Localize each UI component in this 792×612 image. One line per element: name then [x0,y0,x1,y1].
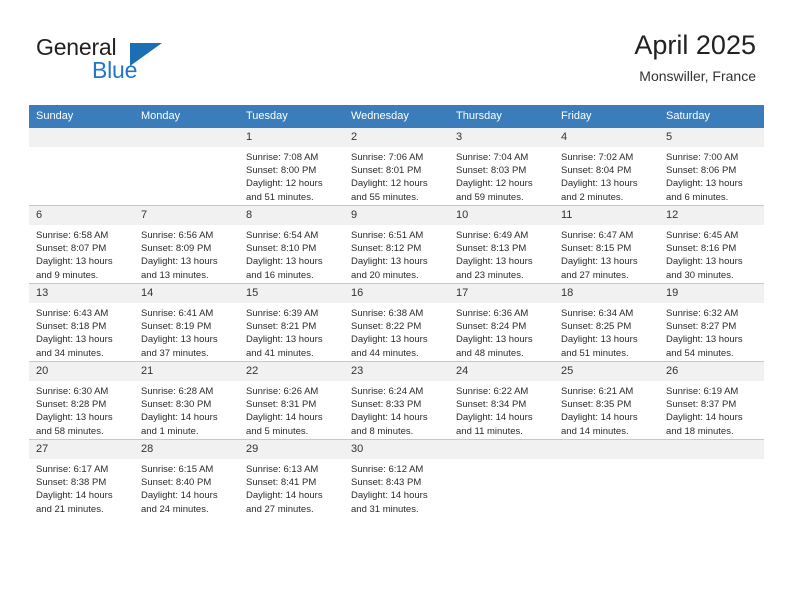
page-header: General Blue April 2025 Monswiller, Fran… [0,0,792,104]
calendar-day-cell-empty [554,440,659,518]
sunset-text: Sunset: 8:41 PM [246,476,338,489]
calendar-day-cell[interactable]: 3Sunrise: 7:04 AMSunset: 8:03 PMDaylight… [449,128,554,206]
day-details: Sunrise: 6:41 AMSunset: 8:19 PMDaylight:… [134,303,239,360]
weekday-header-monday: Monday [134,105,239,128]
day-number: 6 [29,206,134,225]
day-number: 22 [239,362,344,381]
day-number: 1 [239,128,344,147]
calendar-day-cell[interactable]: 14Sunrise: 6:41 AMSunset: 8:19 PMDayligh… [134,284,239,362]
day-details: Sunrise: 6:17 AMSunset: 8:38 PMDaylight:… [29,459,134,516]
day-details: Sunrise: 7:02 AMSunset: 8:04 PMDaylight:… [554,147,659,204]
sunrise-text: Sunrise: 7:04 AM [456,151,548,164]
day-details: Sunrise: 6:32 AMSunset: 8:27 PMDaylight:… [659,303,764,360]
day-details: Sunrise: 6:43 AMSunset: 8:18 PMDaylight:… [29,303,134,360]
calendar-day-cell[interactable]: 15Sunrise: 6:39 AMSunset: 8:21 PMDayligh… [239,284,344,362]
sunrise-text: Sunrise: 6:30 AM [36,385,128,398]
daylight-text: Daylight: 13 hours and 27 minutes. [561,255,653,281]
sunrise-text: Sunrise: 6:26 AM [246,385,338,398]
day-details: Sunrise: 6:54 AMSunset: 8:10 PMDaylight:… [239,225,344,282]
day-number: 20 [29,362,134,381]
day-details: Sunrise: 6:19 AMSunset: 8:37 PMDaylight:… [659,381,764,438]
sunrise-text: Sunrise: 6:24 AM [351,385,443,398]
calendar-day-cell-empty [134,128,239,206]
sunset-text: Sunset: 8:31 PM [246,398,338,411]
sunset-text: Sunset: 8:16 PM [666,242,758,255]
sunset-text: Sunset: 8:33 PM [351,398,443,411]
calendar-day-cell[interactable]: 28Sunrise: 6:15 AMSunset: 8:40 PMDayligh… [134,440,239,518]
day-number: 30 [344,440,449,459]
sunset-text: Sunset: 8:37 PM [666,398,758,411]
general-blue-logo[interactable]: General Blue [36,34,226,90]
calendar-day-cell[interactable]: 26Sunrise: 6:19 AMSunset: 8:37 PMDayligh… [659,362,764,440]
daylight-text: Daylight: 14 hours and 5 minutes. [246,411,338,437]
calendar-day-cell[interactable]: 24Sunrise: 6:22 AMSunset: 8:34 PMDayligh… [449,362,554,440]
day-details: Sunrise: 7:06 AMSunset: 8:01 PMDaylight:… [344,147,449,204]
sunset-text: Sunset: 8:00 PM [246,164,338,177]
calendar-header-row: SundayMondayTuesdayWednesdayThursdayFrid… [29,105,764,128]
daylight-text: Daylight: 13 hours and 2 minutes. [561,177,653,203]
sunrise-text: Sunrise: 6:28 AM [141,385,233,398]
sunset-text: Sunset: 8:21 PM [246,320,338,333]
sunset-text: Sunset: 8:40 PM [141,476,233,489]
sunrise-text: Sunrise: 6:34 AM [561,307,653,320]
day-number: 12 [659,206,764,225]
daylight-text: Daylight: 13 hours and 13 minutes. [141,255,233,281]
calendar-day-cell[interactable]: 22Sunrise: 6:26 AMSunset: 8:31 PMDayligh… [239,362,344,440]
calendar-day-cell[interactable]: 10Sunrise: 6:49 AMSunset: 8:13 PMDayligh… [449,206,554,284]
calendar-day-cell[interactable]: 29Sunrise: 6:13 AMSunset: 8:41 PMDayligh… [239,440,344,518]
daylight-text: Daylight: 13 hours and 58 minutes. [36,411,128,437]
day-number: 24 [449,362,554,381]
calendar-day-cell-empty [29,128,134,206]
calendar-body: 1Sunrise: 7:08 AMSunset: 8:00 PMDaylight… [29,128,764,517]
daylight-text: Daylight: 14 hours and 1 minute. [141,411,233,437]
sunset-text: Sunset: 8:24 PM [456,320,548,333]
weekday-header-wednesday: Wednesday [344,105,449,128]
sunrise-text: Sunrise: 7:02 AM [561,151,653,164]
sunset-text: Sunset: 8:09 PM [141,242,233,255]
sunset-text: Sunset: 8:43 PM [351,476,443,489]
day-details: Sunrise: 6:15 AMSunset: 8:40 PMDaylight:… [134,459,239,516]
day-details: Sunrise: 6:51 AMSunset: 8:12 PMDaylight:… [344,225,449,282]
weekday-header-sunday: Sunday [29,105,134,128]
day-number: 19 [659,284,764,303]
sunrise-text: Sunrise: 7:00 AM [666,151,758,164]
daylight-text: Daylight: 13 hours and 30 minutes. [666,255,758,281]
calendar-day-cell[interactable]: 2Sunrise: 7:06 AMSunset: 8:01 PMDaylight… [344,128,449,206]
calendar-day-cell[interactable]: 18Sunrise: 6:34 AMSunset: 8:25 PMDayligh… [554,284,659,362]
sunset-text: Sunset: 8:03 PM [456,164,548,177]
day-number: 18 [554,284,659,303]
daylight-text: Daylight: 13 hours and 37 minutes. [141,333,233,359]
sunset-text: Sunset: 8:22 PM [351,320,443,333]
sunrise-text: Sunrise: 6:38 AM [351,307,443,320]
day-number: 11 [554,206,659,225]
day-details: Sunrise: 6:30 AMSunset: 8:28 PMDaylight:… [29,381,134,438]
day-details: Sunrise: 6:26 AMSunset: 8:31 PMDaylight:… [239,381,344,438]
sunrise-text: Sunrise: 6:32 AM [666,307,758,320]
sunrise-text: Sunrise: 6:36 AM [456,307,548,320]
calendar-day-cell[interactable]: 21Sunrise: 6:28 AMSunset: 8:30 PMDayligh… [134,362,239,440]
weekday-header-tuesday: Tuesday [239,105,344,128]
daylight-text: Daylight: 13 hours and 6 minutes. [666,177,758,203]
day-details: Sunrise: 6:34 AMSunset: 8:25 PMDaylight:… [554,303,659,360]
calendar-week-row: 6Sunrise: 6:58 AMSunset: 8:07 PMDaylight… [29,206,764,284]
day-number: 10 [449,206,554,225]
calendar-day-cell[interactable]: 4Sunrise: 7:02 AMSunset: 8:04 PMDaylight… [554,128,659,206]
day-number [554,440,659,459]
sunset-text: Sunset: 8:30 PM [141,398,233,411]
day-number: 23 [344,362,449,381]
sunset-text: Sunset: 8:06 PM [666,164,758,177]
day-details: Sunrise: 7:08 AMSunset: 8:00 PMDaylight:… [239,147,344,204]
sunrise-text: Sunrise: 6:19 AM [666,385,758,398]
day-number: 21 [134,362,239,381]
calendar-day-cell[interactable]: 27Sunrise: 6:17 AMSunset: 8:38 PMDayligh… [29,440,134,518]
sunrise-text: Sunrise: 6:17 AM [36,463,128,476]
daylight-text: Daylight: 13 hours and 23 minutes. [456,255,548,281]
day-details: Sunrise: 6:13 AMSunset: 8:41 PMDaylight:… [239,459,344,516]
day-number: 13 [29,284,134,303]
day-number: 16 [344,284,449,303]
day-number: 14 [134,284,239,303]
sunset-text: Sunset: 8:18 PM [36,320,128,333]
day-number: 17 [449,284,554,303]
page-title: April 2025 [634,28,756,62]
sunset-text: Sunset: 8:15 PM [561,242,653,255]
sunset-text: Sunset: 8:25 PM [561,320,653,333]
day-number: 28 [134,440,239,459]
sunset-text: Sunset: 8:28 PM [36,398,128,411]
day-number: 15 [239,284,344,303]
daylight-text: Daylight: 14 hours and 8 minutes. [351,411,443,437]
daylight-text: Daylight: 13 hours and 34 minutes. [36,333,128,359]
calendar-week-row: 13Sunrise: 6:43 AMSunset: 8:18 PMDayligh… [29,284,764,362]
sunrise-text: Sunrise: 6:12 AM [351,463,443,476]
day-number: 7 [134,206,239,225]
calendar-page: General Blue April 2025 Monswiller, Fran… [0,0,792,612]
daylight-text: Daylight: 14 hours and 27 minutes. [246,489,338,515]
sunrise-text: Sunrise: 6:56 AM [141,229,233,242]
day-number: 3 [449,128,554,147]
sunrise-text: Sunrise: 6:15 AM [141,463,233,476]
day-number: 9 [344,206,449,225]
daylight-text: Daylight: 13 hours and 51 minutes. [561,333,653,359]
day-details: Sunrise: 6:49 AMSunset: 8:13 PMDaylight:… [449,225,554,282]
daylight-text: Daylight: 13 hours and 48 minutes. [456,333,548,359]
daylight-text: Daylight: 13 hours and 20 minutes. [351,255,443,281]
day-details: Sunrise: 6:45 AMSunset: 8:16 PMDaylight:… [659,225,764,282]
sunset-text: Sunset: 8:38 PM [36,476,128,489]
day-details: Sunrise: 6:39 AMSunset: 8:21 PMDaylight:… [239,303,344,360]
day-number: 4 [554,128,659,147]
calendar-day-cell[interactable]: 8Sunrise: 6:54 AMSunset: 8:10 PMDaylight… [239,206,344,284]
daylight-text: Daylight: 13 hours and 41 minutes. [246,333,338,359]
calendar-day-cell[interactable]: 9Sunrise: 6:51 AMSunset: 8:12 PMDaylight… [344,206,449,284]
day-number [29,128,134,147]
day-details: Sunrise: 6:58 AMSunset: 8:07 PMDaylight:… [29,225,134,282]
day-details: Sunrise: 6:21 AMSunset: 8:35 PMDaylight:… [554,381,659,438]
day-details: Sunrise: 7:04 AMSunset: 8:03 PMDaylight:… [449,147,554,204]
calendar-day-cell[interactable]: 11Sunrise: 6:47 AMSunset: 8:15 PMDayligh… [554,206,659,284]
calendar-day-cell[interactable]: 6Sunrise: 6:58 AMSunset: 8:07 PMDaylight… [29,206,134,284]
calendar-day-cell[interactable]: 23Sunrise: 6:24 AMSunset: 8:33 PMDayligh… [344,362,449,440]
daylight-text: Daylight: 13 hours and 44 minutes. [351,333,443,359]
sunrise-text: Sunrise: 6:13 AM [246,463,338,476]
daylight-text: Daylight: 14 hours and 18 minutes. [666,411,758,437]
calendar-day-cell[interactable]: 30Sunrise: 6:12 AMSunset: 8:43 PMDayligh… [344,440,449,518]
daylight-text: Daylight: 12 hours and 51 minutes. [246,177,338,203]
daylight-text: Daylight: 14 hours and 14 minutes. [561,411,653,437]
day-details: Sunrise: 6:24 AMSunset: 8:33 PMDaylight:… [344,381,449,438]
weekday-header-saturday: Saturday [659,105,764,128]
calendar-day-cell[interactable]: 1Sunrise: 7:08 AMSunset: 8:00 PMDaylight… [239,128,344,206]
day-details: Sunrise: 6:56 AMSunset: 8:09 PMDaylight:… [134,225,239,282]
sunrise-text: Sunrise: 7:06 AM [351,151,443,164]
calendar-day-cell[interactable]: 13Sunrise: 6:43 AMSunset: 8:18 PMDayligh… [29,284,134,362]
day-details: Sunrise: 6:36 AMSunset: 8:24 PMDaylight:… [449,303,554,360]
sunrise-text: Sunrise: 6:39 AM [246,307,338,320]
day-number: 26 [659,362,764,381]
logo-text-blue: Blue [92,57,137,84]
sunset-text: Sunset: 8:01 PM [351,164,443,177]
calendar-week-row: 27Sunrise: 6:17 AMSunset: 8:38 PMDayligh… [29,440,764,518]
daylight-text: Daylight: 13 hours and 16 minutes. [246,255,338,281]
calendar-day-cell[interactable]: 17Sunrise: 6:36 AMSunset: 8:24 PMDayligh… [449,284,554,362]
sunset-text: Sunset: 8:35 PM [561,398,653,411]
day-number: 2 [344,128,449,147]
calendar-day-cell[interactable]: 7Sunrise: 6:56 AMSunset: 8:09 PMDaylight… [134,206,239,284]
calendar-day-cell-empty [659,440,764,518]
day-details: Sunrise: 7:00 AMSunset: 8:06 PMDaylight:… [659,147,764,204]
sunset-text: Sunset: 8:34 PM [456,398,548,411]
day-number: 27 [29,440,134,459]
day-number: 29 [239,440,344,459]
sunrise-text: Sunrise: 6:58 AM [36,229,128,242]
sunrise-text: Sunrise: 7:08 AM [246,151,338,164]
title-block: April 2025 Monswiller, France [634,28,756,86]
weekday-header-thursday: Thursday [449,105,554,128]
sunrise-text: Sunrise: 6:51 AM [351,229,443,242]
weekday-header-friday: Friday [554,105,659,128]
sunset-text: Sunset: 8:19 PM [141,320,233,333]
day-number [449,440,554,459]
day-details: Sunrise: 6:38 AMSunset: 8:22 PMDaylight:… [344,303,449,360]
day-details: Sunrise: 6:22 AMSunset: 8:34 PMDaylight:… [449,381,554,438]
sunrise-text: Sunrise: 6:43 AM [36,307,128,320]
day-number: 8 [239,206,344,225]
daylight-text: Daylight: 14 hours and 21 minutes. [36,489,128,515]
day-number: 5 [659,128,764,147]
calendar-day-cell[interactable]: 12Sunrise: 6:45 AMSunset: 8:16 PMDayligh… [659,206,764,284]
sunset-text: Sunset: 8:13 PM [456,242,548,255]
calendar-week-row: 1Sunrise: 7:08 AMSunset: 8:00 PMDaylight… [29,128,764,206]
sunset-text: Sunset: 8:07 PM [36,242,128,255]
sunrise-text: Sunrise: 6:45 AM [666,229,758,242]
day-details: Sunrise: 6:47 AMSunset: 8:15 PMDaylight:… [554,225,659,282]
calendar-week-row: 20Sunrise: 6:30 AMSunset: 8:28 PMDayligh… [29,362,764,440]
calendar-day-cell[interactable]: 16Sunrise: 6:38 AMSunset: 8:22 PMDayligh… [344,284,449,362]
daylight-text: Daylight: 14 hours and 31 minutes. [351,489,443,515]
daylight-text: Daylight: 14 hours and 24 minutes. [141,489,233,515]
day-details: Sunrise: 6:28 AMSunset: 8:30 PMDaylight:… [134,381,239,438]
day-number: 25 [554,362,659,381]
calendar-day-cell[interactable]: 25Sunrise: 6:21 AMSunset: 8:35 PMDayligh… [554,362,659,440]
daylight-text: Daylight: 14 hours and 11 minutes. [456,411,548,437]
sunset-text: Sunset: 8:10 PM [246,242,338,255]
sunrise-text: Sunrise: 6:21 AM [561,385,653,398]
daylight-text: Daylight: 13 hours and 54 minutes. [666,333,758,359]
sunset-text: Sunset: 8:04 PM [561,164,653,177]
sunrise-text: Sunrise: 6:47 AM [561,229,653,242]
day-details: Sunrise: 6:12 AMSunset: 8:43 PMDaylight:… [344,459,449,516]
calendar-day-cell[interactable]: 5Sunrise: 7:00 AMSunset: 8:06 PMDaylight… [659,128,764,206]
sunrise-text: Sunrise: 6:49 AM [456,229,548,242]
daylight-text: Daylight: 13 hours and 9 minutes. [36,255,128,281]
calendar-day-cell[interactable]: 19Sunrise: 6:32 AMSunset: 8:27 PMDayligh… [659,284,764,362]
sunrise-text: Sunrise: 6:41 AM [141,307,233,320]
sunset-text: Sunset: 8:12 PM [351,242,443,255]
sunrise-text: Sunrise: 6:22 AM [456,385,548,398]
calendar-day-cell-empty [449,440,554,518]
day-number [134,128,239,147]
day-number [659,440,764,459]
sunrise-text: Sunrise: 6:54 AM [246,229,338,242]
calendar-day-cell[interactable]: 20Sunrise: 6:30 AMSunset: 8:28 PMDayligh… [29,362,134,440]
calendar-grid: SundayMondayTuesdayWednesdayThursdayFrid… [29,105,764,517]
sunset-text: Sunset: 8:27 PM [666,320,758,333]
page-subtitle-location: Monswiller, France [634,66,756,86]
daylight-text: Daylight: 12 hours and 55 minutes. [351,177,443,203]
daylight-text: Daylight: 12 hours and 59 minutes. [456,177,548,203]
